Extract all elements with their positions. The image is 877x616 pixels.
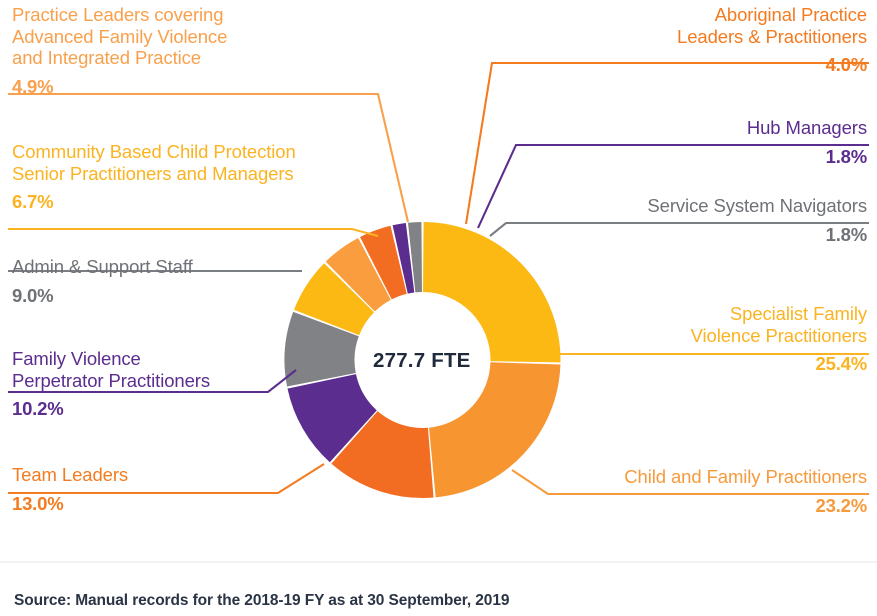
value-fv-perpetrator: 10.2% [12, 398, 210, 420]
donut-slice[interactable] [429, 362, 560, 497]
label-community-based-line1: Community Based Child Protection [12, 141, 296, 163]
value-service-navigators: 1.8% [647, 224, 867, 246]
label-service-navigators: Service System Navigators 1.8% [647, 195, 867, 245]
source-note: Source: Manual records for the 2018-19 F… [14, 592, 509, 610]
label-practice-leaders: Practice Leaders covering Advanced Famil… [12, 4, 227, 98]
label-aboriginal: Aboriginal Practice Leaders & Practition… [677, 4, 867, 76]
label-specialist-fv-line2: Violence Practitioners [691, 325, 867, 347]
value-community-based: 6.7% [12, 191, 296, 213]
label-fv-perpetrator-line2: Perpetrator Practitioners [12, 370, 210, 392]
label-specialist-fv-line1: Specialist Family [691, 303, 867, 325]
label-child-family-line1: Child and Family Practitioners [624, 466, 867, 488]
leader-line-community-based [8, 229, 378, 236]
label-fv-perpetrator-line1: Family Violence [12, 348, 210, 370]
label-specialist-fv: Specialist Family Violence Practitioners… [691, 303, 867, 375]
label-aboriginal-line2: Leaders & Practitioners [677, 26, 867, 48]
label-admin-support-line1: Admin & Support Staff [12, 256, 193, 278]
label-child-family: Child and Family Practitioners 23.2% [624, 466, 867, 516]
label-fv-perpetrator: Family Violence Perpetrator Practitioner… [12, 348, 210, 420]
label-admin-support: Admin & Support Staff 9.0% [12, 256, 193, 306]
value-hub-managers: 1.8% [747, 146, 867, 168]
label-service-navigators-line1: Service System Navigators [647, 195, 867, 217]
label-community-based: Community Based Child Protection Senior … [12, 141, 296, 213]
label-aboriginal-line1: Aboriginal Practice [677, 4, 867, 26]
value-practice-leaders: 4.9% [12, 76, 227, 98]
label-practice-leaders-line2: Advanced Family Violence [12, 26, 227, 48]
label-hub-managers-line1: Hub Managers [747, 117, 867, 139]
label-team-leaders-line1: Team Leaders [12, 464, 128, 486]
label-practice-leaders-line1: Practice Leaders covering [12, 4, 227, 26]
footer-divider [0, 561, 877, 563]
donut-slice[interactable] [423, 222, 560, 362]
label-community-based-line2: Senior Practitioners and Managers [12, 163, 296, 185]
chart-canvas: Practice Leaders covering Advanced Famil… [0, 0, 877, 616]
label-hub-managers: Hub Managers 1.8% [747, 117, 867, 167]
value-admin-support: 9.0% [12, 285, 193, 307]
donut-center-value: 277.7 FTE [373, 349, 471, 373]
value-child-family: 23.2% [624, 495, 867, 517]
value-aboriginal: 4.0% [677, 54, 867, 76]
label-team-leaders: Team Leaders 13.0% [12, 464, 128, 514]
label-practice-leaders-line3: and Integrated Practice [12, 47, 227, 69]
value-team-leaders: 13.0% [12, 493, 128, 515]
value-specialist-fv: 25.4% [691, 353, 867, 375]
